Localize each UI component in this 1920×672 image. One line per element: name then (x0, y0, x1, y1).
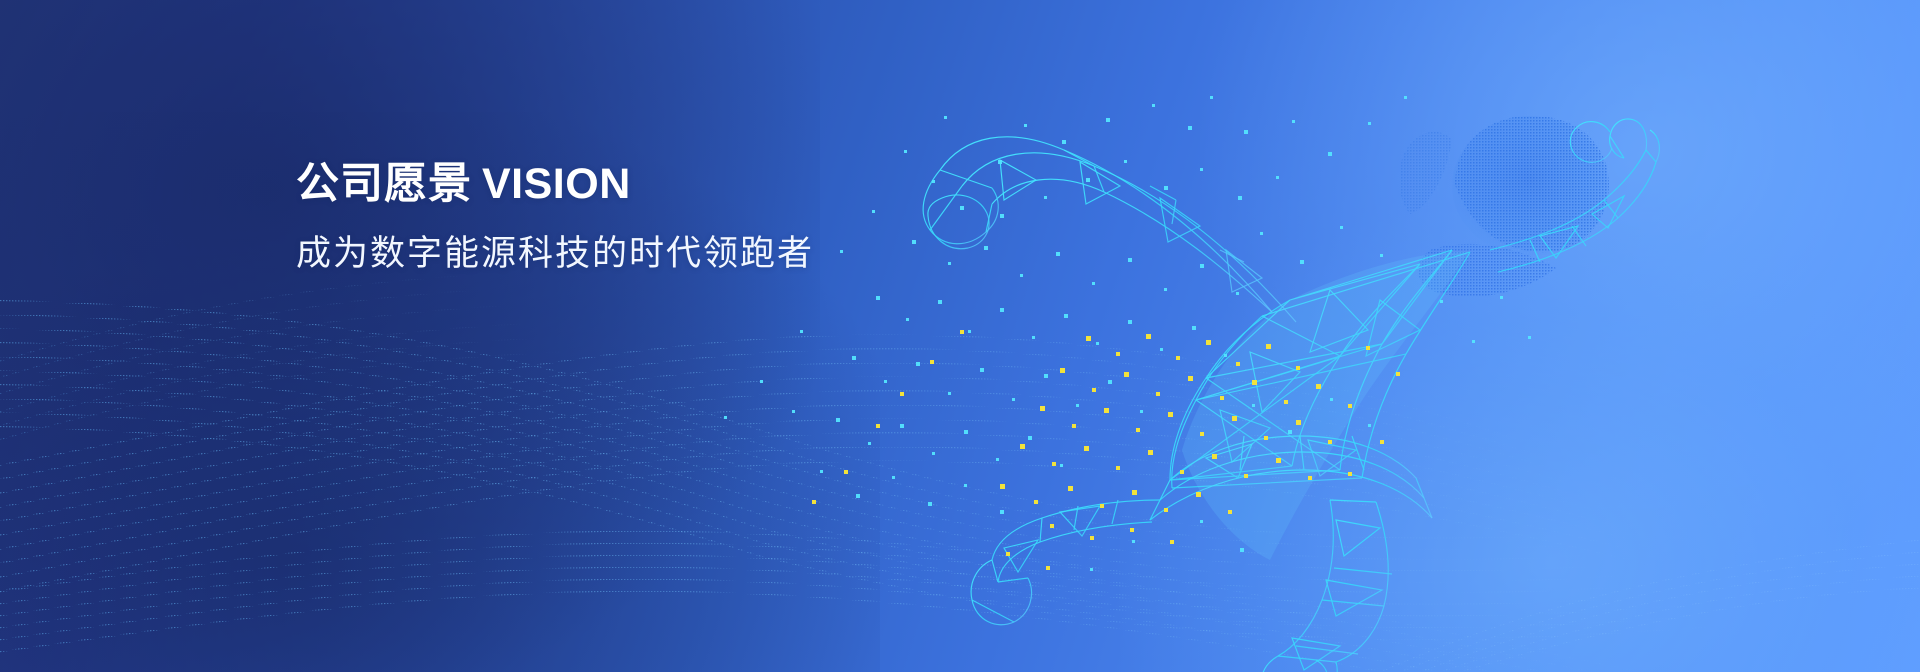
headline-latin: VISION (472, 160, 631, 208)
banner-copy: 公司愿景VISION 成为数字能源科技的时代领跑者 (296, 160, 1056, 275)
page-title: 公司愿景VISION (296, 160, 1056, 209)
page-subtitle: 成为数字能源科技的时代领跑者 (296, 209, 1056, 275)
vision-banner: 公司愿景VISION 成为数字能源科技的时代领跑者 (0, 0, 1920, 672)
background-glow-bottom-right (1120, 212, 1920, 672)
headline-chinese: 公司愿景 (296, 160, 472, 208)
